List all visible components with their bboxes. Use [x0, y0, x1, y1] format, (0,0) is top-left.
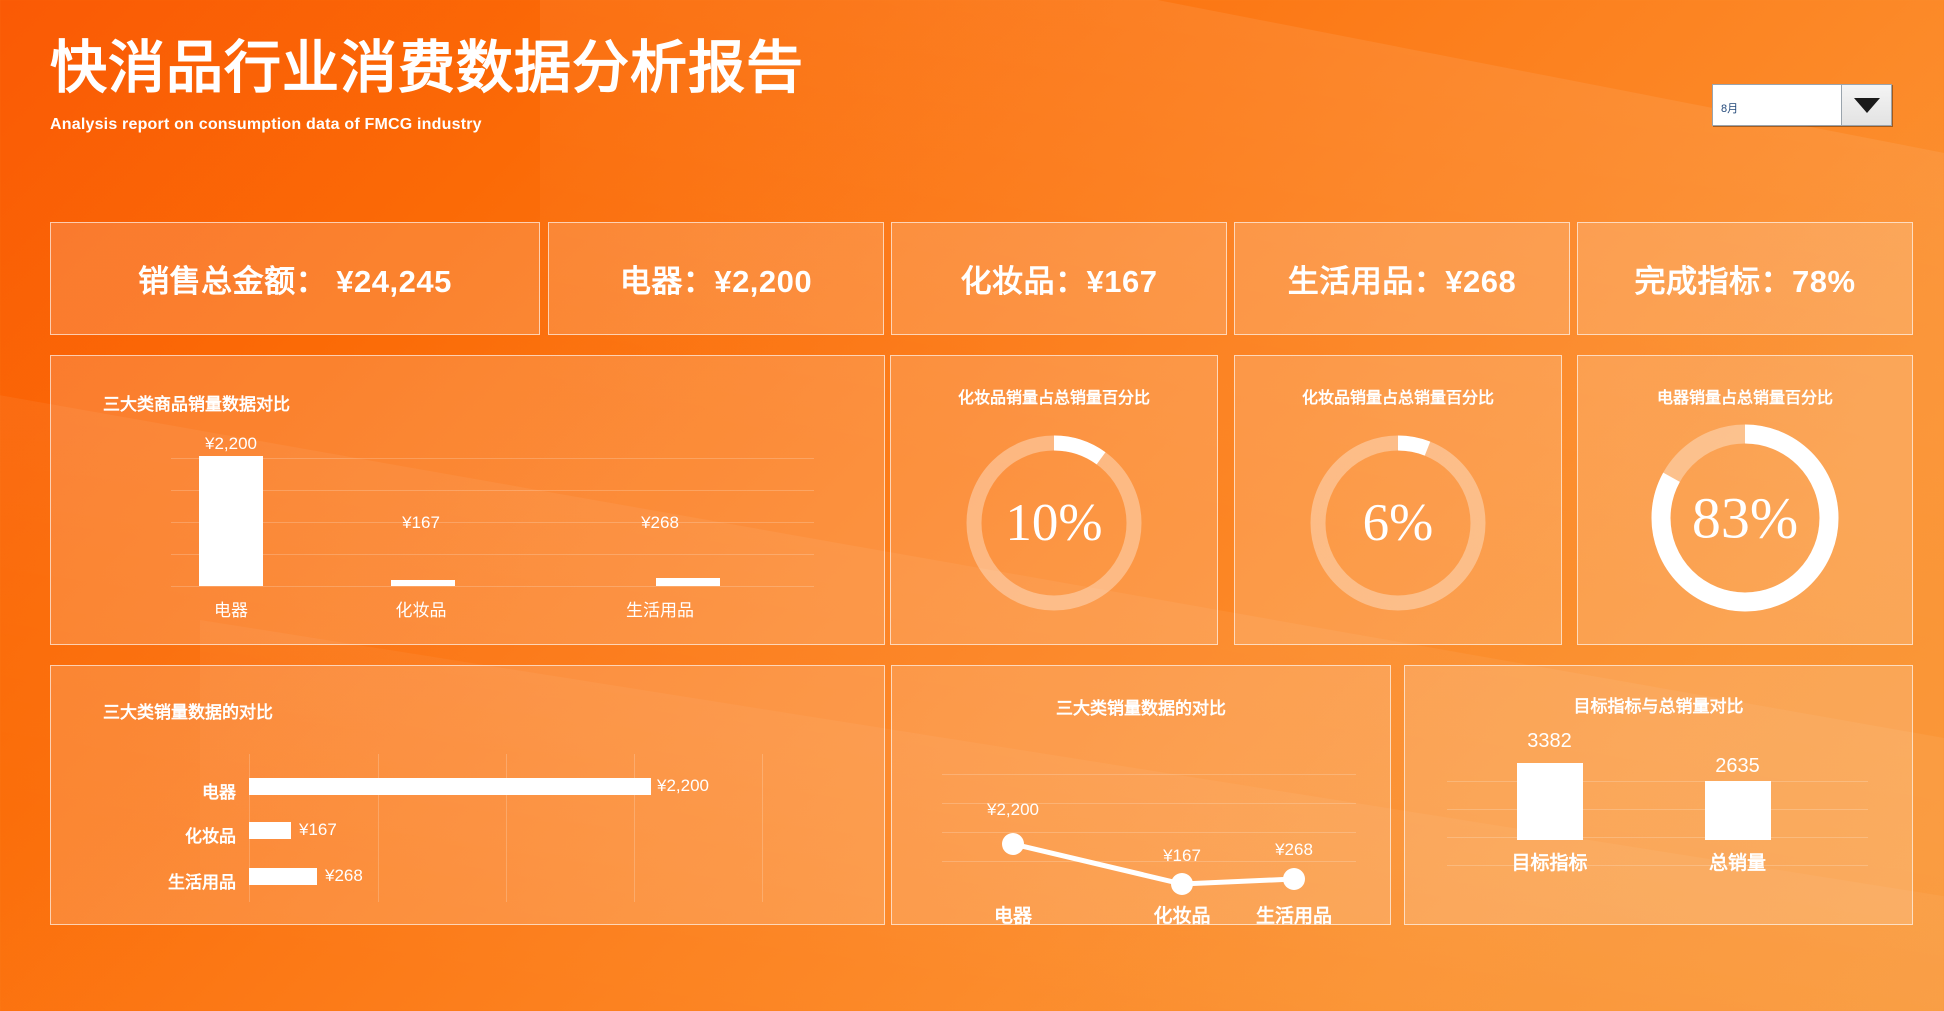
- line-point-daily-goods: [1283, 868, 1305, 890]
- donut-center-value: 83%: [1645, 485, 1845, 552]
- panel-title: 三大类销量数据的对比: [103, 698, 273, 723]
- bar-cosmetics: [391, 580, 455, 586]
- line-value-label: ¥268: [1275, 840, 1313, 860]
- kpi-label: 销售总金额： ¥24,245: [138, 256, 452, 301]
- donut-center-value: 10%: [959, 493, 1149, 553]
- bar-category-label: 生活用品: [600, 596, 720, 621]
- kpi-card-cosmetics[interactable]: 化妆品：¥167: [891, 222, 1227, 335]
- hbar-value-label: ¥268: [325, 866, 363, 886]
- panel-title: 化妆品销量占总销量百分比: [1235, 384, 1561, 408]
- bar-category-label: 目标指标: [1487, 848, 1612, 875]
- bar-value-label: 2635: [1675, 755, 1800, 778]
- line-category-label: 生活用品: [1256, 901, 1332, 928]
- gridline: [171, 554, 814, 555]
- panel-title: 化妆品销量占总销量百分比: [891, 384, 1217, 408]
- gridline: [634, 754, 635, 902]
- dashboard-header: 快消品行业消费数据分析报告 Analysis report on consump…: [50, 36, 804, 134]
- page-subtitle: Analysis report on consumption data of F…: [50, 116, 804, 134]
- line-chart-svg: [892, 666, 1392, 926]
- panel-horizontal-bar-chart: 三大类销量数据的对比 电器 ¥2,200 化妆品 ¥167 生活用品 ¥268: [50, 665, 885, 925]
- panel-column-chart: 三大类商品销量数据对比 ¥2,200 电器 ¥167 化妆品 ¥268 生活用品: [50, 355, 885, 645]
- kpi-label: 化妆品：¥167: [961, 256, 1158, 301]
- kpi-label: 电器：¥2,200: [620, 256, 812, 301]
- line-value-label: ¥167: [1163, 846, 1201, 866]
- page-title: 快消品行业消费数据分析报告: [50, 36, 804, 102]
- line-category-label: 电器: [994, 901, 1032, 928]
- bar-value-label: ¥2,200: [171, 434, 291, 454]
- kpi-card-total-sales[interactable]: 销售总金额： ¥24,245: [50, 222, 540, 335]
- gridline: [762, 754, 763, 902]
- gridline: [171, 586, 814, 587]
- bar-category-label: 化妆品: [361, 596, 481, 621]
- bar-value-label: 3382: [1487, 730, 1612, 753]
- panel-target-chart: 目标指标与总销量对比 3382 目标指标 2635 总销量: [1404, 665, 1913, 925]
- bar-total-sales: [1705, 781, 1771, 840]
- gridline: [378, 754, 379, 902]
- gridline: [1447, 781, 1868, 782]
- panel-donut-appliances: 电器销量占总销量百分比 83%: [1577, 355, 1913, 645]
- panel-donut-cosmetics-1: 化妆品销量占总销量百分比 10%: [890, 355, 1218, 645]
- panel-title: 电器销量占总销量百分比: [1578, 384, 1912, 408]
- bar-appliances: [199, 456, 263, 586]
- bar-daily-goods: [656, 578, 720, 586]
- panel-line-chart: 三大类销量数据的对比 ¥2,200 ¥167 ¥268 电器 化妆品 生活用品: [891, 665, 1391, 925]
- bar-value-label: ¥268: [600, 513, 720, 533]
- donut-chart-83: 83%: [1645, 418, 1845, 618]
- hbar-daily-goods: [249, 868, 317, 885]
- gridline: [1447, 837, 1868, 838]
- line-category-label: 化妆品: [1153, 901, 1210, 928]
- gridline: [1447, 809, 1868, 810]
- kpi-label: 完成指标：78%: [1634, 256, 1855, 301]
- gridline: [506, 754, 507, 902]
- line-point-appliances: [1002, 833, 1024, 855]
- hbar-cosmetics: [249, 822, 291, 839]
- bar-category-label: 电器: [171, 596, 291, 621]
- gridline: [171, 458, 814, 459]
- line-point-cosmetics: [1171, 873, 1193, 895]
- kpi-card-target-completion[interactable]: 完成指标：78%: [1577, 222, 1913, 335]
- hbar-value-label: ¥167: [299, 820, 337, 840]
- bar-value-label: ¥167: [361, 513, 481, 533]
- gridline: [171, 490, 814, 491]
- hbar-category-label: 生活用品: [97, 868, 236, 893]
- donut-chart-6: 6%: [1303, 428, 1493, 618]
- hbar-category-label: 电器: [111, 778, 236, 803]
- line-value-label: ¥2,200: [987, 800, 1039, 820]
- hbar-value-label: ¥2,200: [657, 776, 709, 796]
- donut-center-value: 6%: [1303, 493, 1493, 553]
- hbar-category-label: 化妆品: [111, 822, 236, 847]
- hbar-appliances: [249, 778, 651, 795]
- bar-target: [1517, 763, 1583, 840]
- kpi-card-daily-goods[interactable]: 生活用品：¥268: [1234, 222, 1570, 335]
- chevron-down-icon[interactable]: [1841, 85, 1891, 125]
- kpi-card-appliances[interactable]: 电器：¥2,200: [548, 222, 884, 335]
- bar-category-label: 总销量: [1675, 848, 1800, 875]
- donut-chart-10: 10%: [959, 428, 1149, 618]
- panel-donut-cosmetics-2: 化妆品销量占总销量百分比 6%: [1234, 355, 1562, 645]
- month-filter-dropdown[interactable]: 8月: [1712, 84, 1892, 126]
- kpi-label: 生活用品：¥268: [1288, 256, 1516, 301]
- month-filter-value: 8月: [1713, 100, 1841, 125]
- panel-title: 目标指标与总销量对比: [1405, 692, 1912, 717]
- panel-title: 三大类商品销量数据对比: [103, 390, 290, 415]
